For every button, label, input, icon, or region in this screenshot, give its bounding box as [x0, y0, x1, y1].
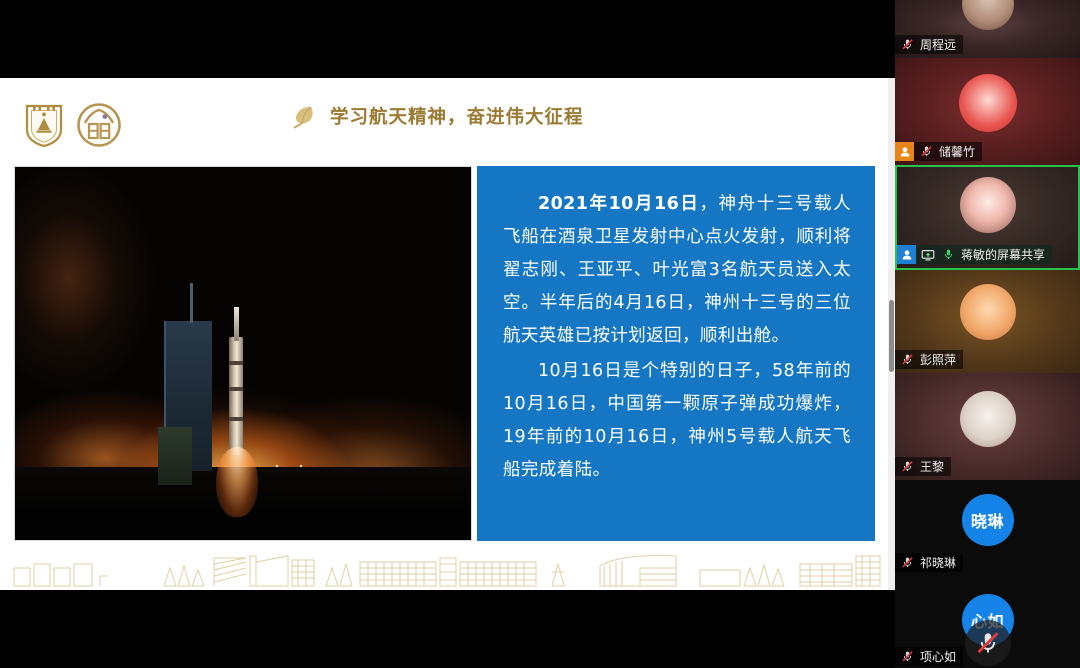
institution-logos [24, 102, 122, 148]
participant-tile-active[interactable]: 蒋敏的屏幕共享 [895, 165, 1080, 270]
mic-active-icon [940, 247, 956, 263]
rocket-launch-photo [14, 166, 472, 541]
avatar [960, 391, 1016, 447]
participant-tile[interactable]: 晓琳 祁晓琳 [895, 480, 1080, 576]
university-crest-icon [24, 102, 64, 148]
mic-muted-icon [918, 144, 934, 160]
slide-header: 学习航天精神，奋进伟大征程 [0, 78, 888, 166]
slide-paragraph-2: 10月16日是个特别的日子，58年前的10月16日，中国第一颗原子弹成功爆炸，1… [503, 355, 851, 487]
participant-tile[interactable]: 周程远 [895, 0, 1080, 58]
participant-name: 祁晓琳 [920, 554, 956, 571]
slide-text-panel: 2021年10月16日，神舟十三号载人飞船在酒泉卫星发射中心点火发射，顺利将翟志… [477, 166, 875, 541]
participant-filmstrip[interactable]: 周程远 [895, 0, 1080, 668]
participant-name-bar: 彭照萍 [895, 350, 963, 369]
pad-light [276, 465, 278, 467]
rocket-nose-cone [234, 307, 239, 341]
participant-name: 彭照萍 [920, 351, 956, 368]
participant-tile[interactable]: 王黎 [895, 373, 1080, 480]
mic-muted-overlay-icon [965, 620, 1011, 666]
launch-tower-base [158, 427, 192, 485]
share-view-scrollbar[interactable] [888, 78, 895, 590]
rocket-band [229, 417, 243, 421]
ginkgo-leaf-icon [290, 102, 316, 130]
participant-name: 王黎 [920, 458, 944, 475]
share-view-scrollbar-thumb[interactable] [889, 300, 894, 372]
participant-name-bar: 王黎 [895, 457, 951, 476]
page-title: 学习航天精神，奋进伟大征程 [330, 103, 584, 129]
participant-tile[interactable]: 彭照萍 [895, 270, 1080, 373]
rocket-band [229, 361, 243, 365]
screen-share-icon [920, 247, 936, 263]
participant-name: 蒋敏的屏幕共享 [961, 246, 1045, 263]
participant-name-bar: 项心如 [895, 647, 963, 666]
avatar [959, 74, 1017, 132]
rocket-exhaust-plume [216, 447, 258, 517]
meeting-screen-share-app: 学习航天精神，奋进伟大征程 [0, 0, 1080, 668]
host-badge-icon [895, 142, 914, 161]
slide-body: 2021年10月16日，神舟十三号载人飞船在酒泉卫星发射中心点火发射，顺利将翟志… [0, 166, 888, 590]
mic-muted-icon [899, 37, 915, 53]
rocket-body [229, 337, 243, 455]
mic-muted-icon [899, 555, 915, 571]
tower-mast [190, 283, 193, 323]
presentation-slide[interactable]: 学习航天精神，奋进伟大征程 [0, 78, 888, 590]
avatar [960, 177, 1016, 233]
university-seal-icon [76, 102, 122, 148]
slide-footer-skyline [0, 542, 888, 590]
participant-name-bar: 蒋敏的屏幕共享 [897, 245, 1052, 264]
paragraph-rest: 10月16日是个特别的日子，58年前的10月16日，中国第一颗原子弹成功爆炸，1… [503, 361, 851, 480]
paragraph-lead-date: 2021年10月16日 [538, 194, 699, 214]
mic-muted-icon [899, 459, 915, 475]
share-badge-icon [897, 245, 916, 264]
paragraph-rest: ，神舟十三号载人飞船在酒泉卫星发射中心点火发射，顺利将翟志刚、王亚平、叶光富3名… [503, 194, 851, 346]
mic-muted-icon [899, 649, 915, 665]
avatar-initials: 晓琳 [962, 494, 1014, 546]
rocket-band [229, 387, 243, 391]
pad-light [300, 465, 302, 467]
slide-title-group: 学习航天精神，奋进伟大征程 [290, 102, 584, 130]
mic-muted-icon [899, 352, 915, 368]
participant-name-bar: 祁晓琳 [895, 553, 963, 572]
avatar [960, 284, 1016, 340]
shared-content-region[interactable]: 学习航天精神，奋进伟大征程 [0, 0, 895, 668]
participant-name-bar: 储馨竹 [895, 142, 982, 161]
slide-paragraph-1: 2021年10月16日，神舟十三号载人飞船在酒泉卫星发射中心点火发射，顺利将翟志… [503, 188, 851, 353]
participant-name: 储馨竹 [939, 143, 975, 160]
participant-name: 周程远 [920, 36, 956, 53]
participant-tile[interactable]: 心如 项心如 [895, 576, 1080, 668]
participant-name-bar: 周程远 [895, 35, 963, 54]
participant-tile[interactable]: 储馨竹 [895, 58, 1080, 165]
participant-name: 项心如 [920, 648, 956, 665]
